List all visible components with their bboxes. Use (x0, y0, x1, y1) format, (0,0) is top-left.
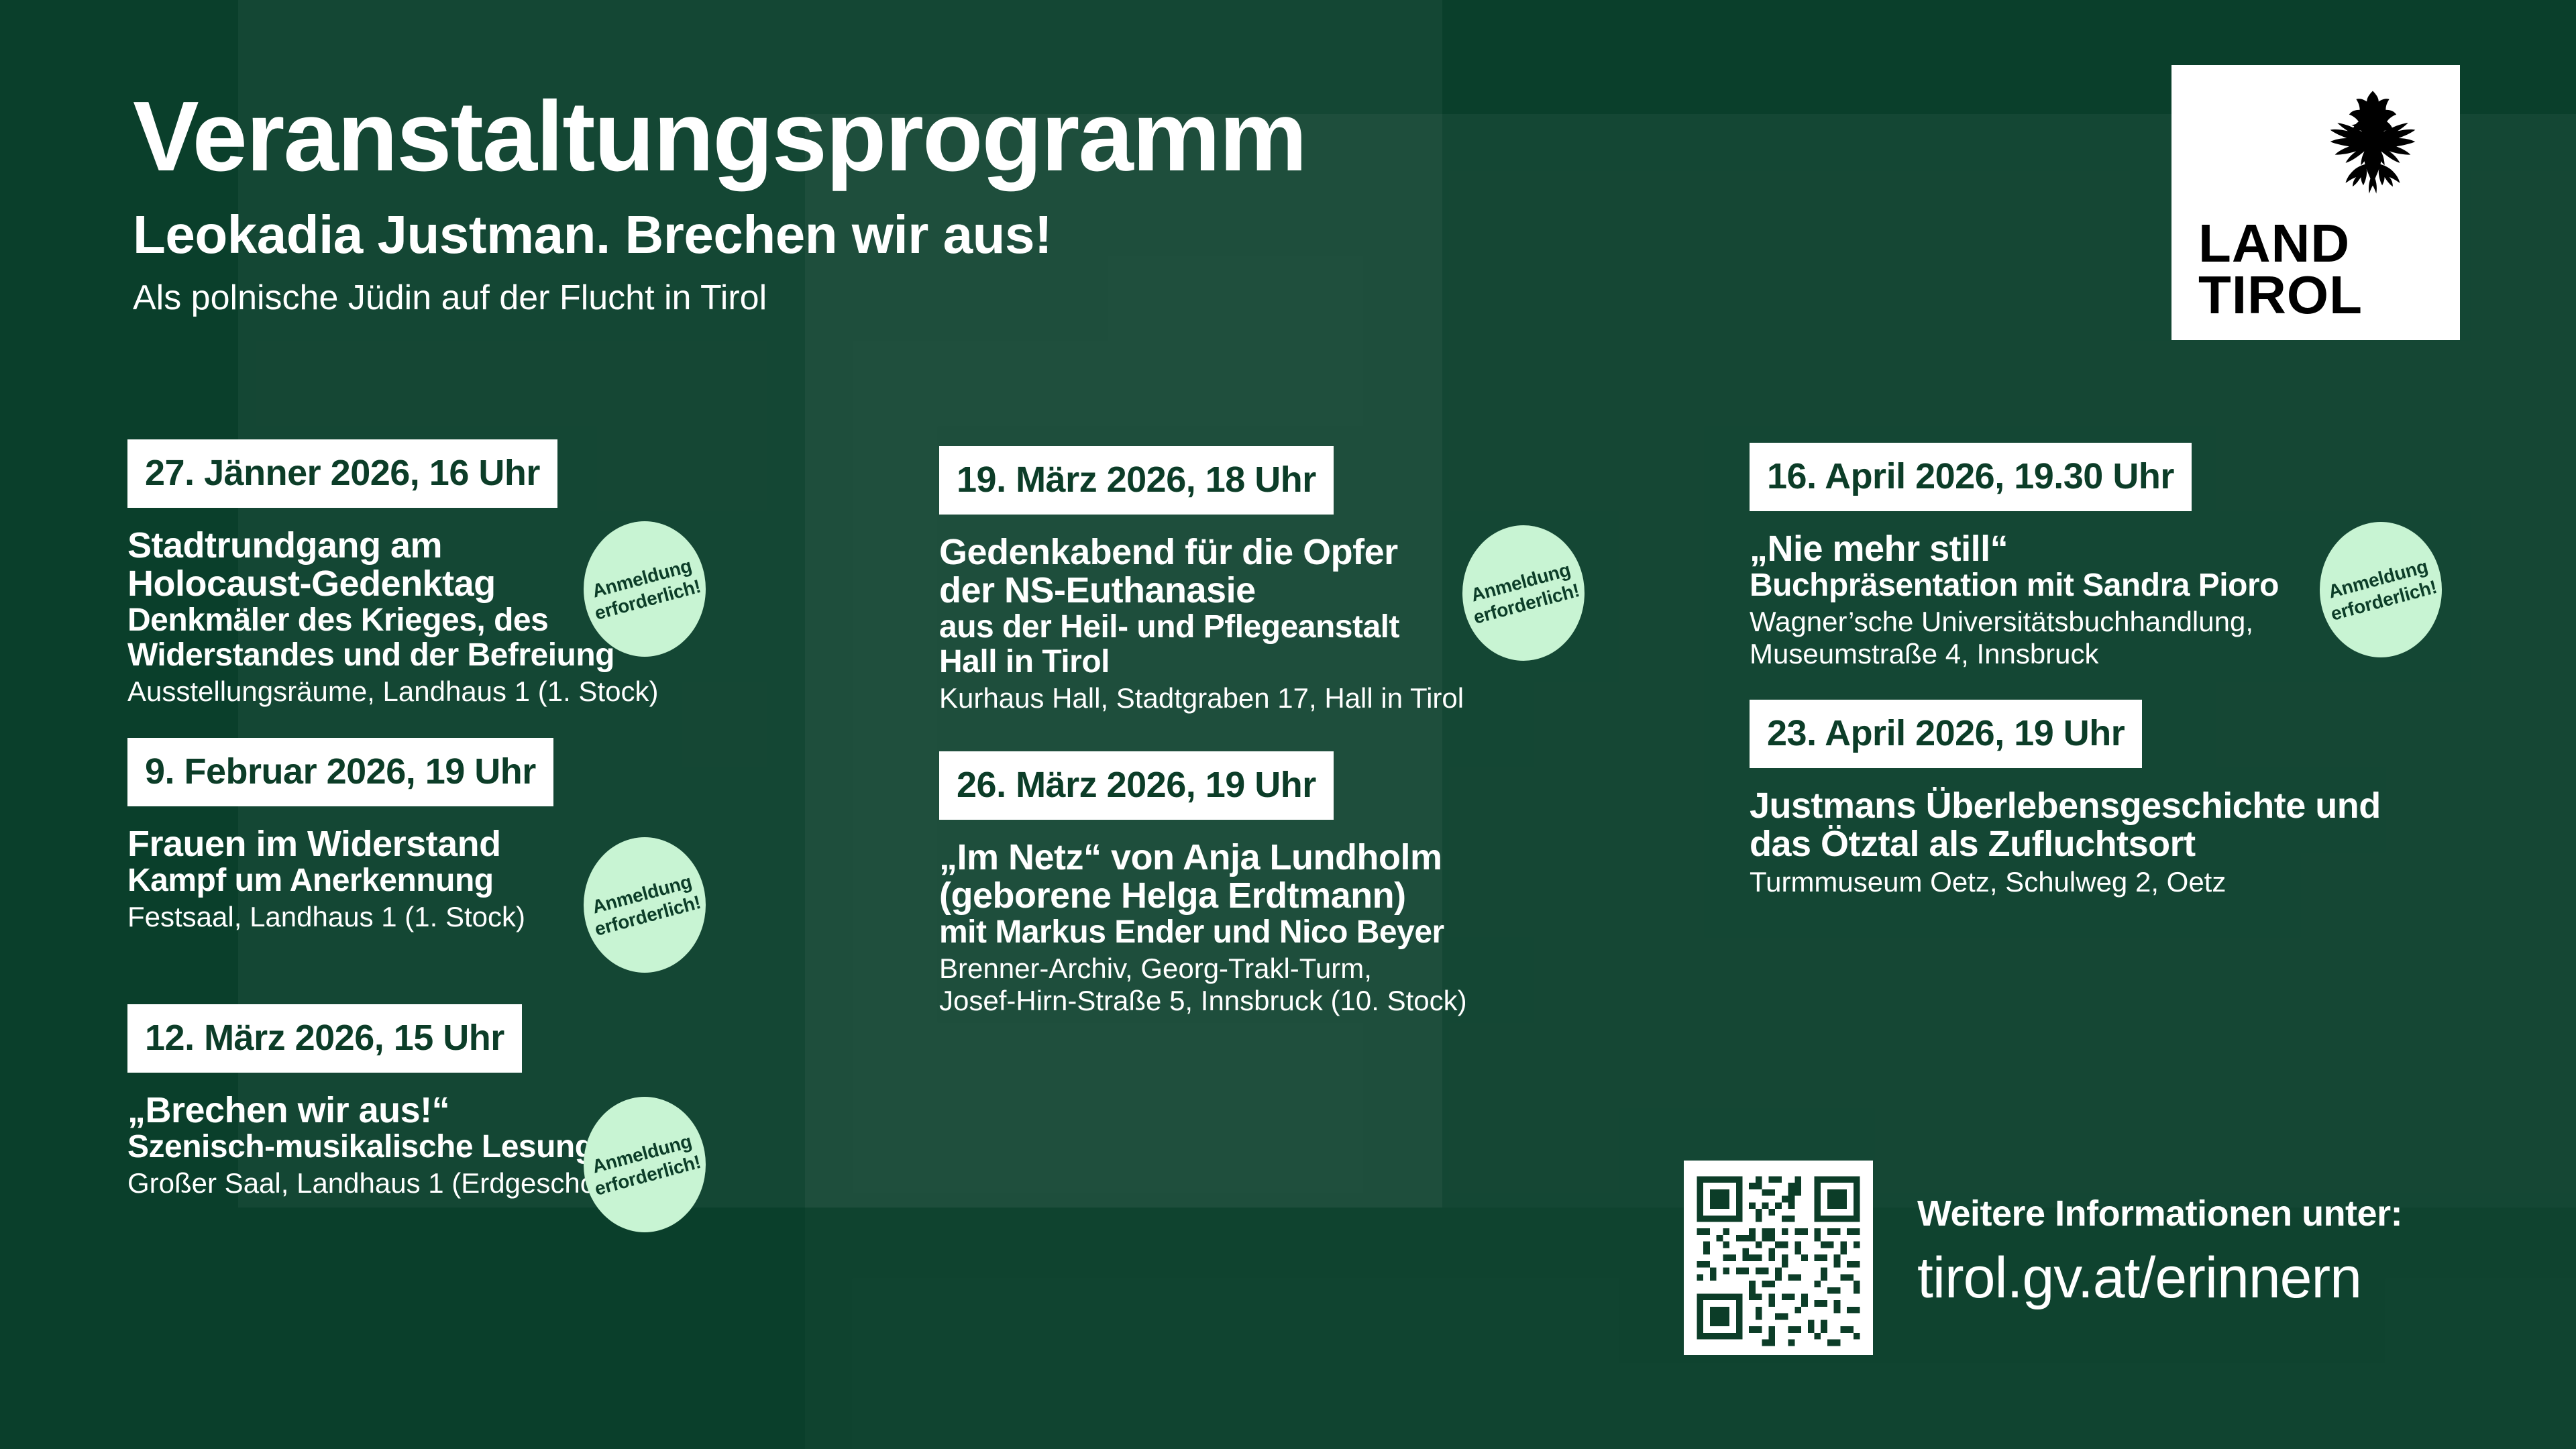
registration-badge-text: Anmeldung erforderlich! (2322, 554, 2439, 625)
registration-badge-text: Anmeldung erforderlich! (586, 869, 703, 941)
footer-lead-label: Weitere Informationen unter: (1917, 1195, 2402, 1232)
poster-header: Veranstaltungsprogramm Leokadia Justman.… (133, 87, 1743, 317)
event-title: Frauen im Widerstand (127, 825, 798, 863)
logo-line-tirol: TIROL (2198, 270, 2363, 321)
event-card: 12. März 2026, 15 Uhr „Brechen wir aus!“… (127, 1004, 798, 1219)
event-body: Justmans Überlebensgeschichte unddas Ötz… (1750, 787, 2501, 898)
land-tirol-logo: LAND TIROL (2171, 65, 2460, 340)
event-card: 27. Jänner 2026, 16 Uhr Stadtrundgang am… (127, 439, 798, 738)
event-date-chip: 27. Jänner 2026, 16 Uhr (127, 439, 557, 508)
footer-text-block: Weitere Informationen unter: tirol.gv.at… (1917, 1195, 2402, 1307)
event-column-3: 16. April 2026, 19.30 Uhr „Nie mehr stil… (1750, 443, 2501, 914)
event-date-chip: 9. Februar 2026, 19 Uhr (127, 738, 553, 806)
tyrolean-eagle-icon (2314, 84, 2432, 202)
event-venue: Kurhaus Hall, Stadtgraben 17, Hall in Ti… (939, 682, 1617, 714)
event-column-2: 19. März 2026, 18 Uhr Gedenkabend für di… (939, 446, 1617, 1073)
event-body: „Im Netz“ von Anja Lundholm(geborene Hel… (939, 839, 1617, 1017)
event-date-chip: 12. März 2026, 15 Uhr (127, 1004, 522, 1073)
land-tirol-wordmark: LAND TIROL (2198, 218, 2363, 321)
registration-badge: Anmeldung erforderlich! (584, 837, 706, 973)
event-title: „Im Netz“ von Anja Lundholm(geborene Hel… (939, 839, 1617, 915)
event-card: 23. April 2026, 19 Uhr Justmans Überlebe… (1750, 700, 2501, 914)
poster-tagline: Als polnische Jüdin auf der Flucht in Ti… (133, 279, 1743, 317)
event-venue: Ausstellungsräume, Landhaus 1 (1. Stock) (127, 676, 798, 708)
event-card: 16. April 2026, 19.30 Uhr „Nie mehr stil… (1750, 443, 2501, 700)
qr-code[interactable] (1684, 1161, 1873, 1355)
event-date-chip: 16. April 2026, 19.30 Uhr (1750, 443, 2192, 511)
event-column-1: 27. Jänner 2026, 16 Uhr Stadtrundgang am… (127, 439, 798, 1219)
logo-line-land: LAND (2198, 218, 2363, 270)
event-date-chip: 23. April 2026, 19 Uhr (1750, 700, 2142, 768)
registration-badge: Anmeldung erforderlich! (1462, 525, 1585, 661)
footer: Weitere Informationen unter: tirol.gv.at… (1684, 1161, 2522, 1382)
event-subtitle: mit Markus Ender und Nico Beyer (939, 915, 1617, 950)
footer-url[interactable]: tirol.gv.at/erinnern (1917, 1249, 2402, 1307)
registration-badge: Anmeldung erforderlich! (584, 521, 706, 657)
event-card: 19. März 2026, 18 Uhr Gedenkabend für di… (939, 446, 1617, 751)
page-title: Veranstaltungsprogramm (133, 87, 1743, 186)
event-card: 26. März 2026, 19 Uhr „Im Netz“ von Anja… (939, 751, 1617, 1073)
event-venue: Turmmuseum Oetz, Schulweg 2, Oetz (1750, 866, 2501, 898)
registration-badge: Anmeldung erforderlich! (584, 1097, 706, 1232)
event-card: 9. Februar 2026, 19 Uhr Frauen im Widers… (127, 738, 798, 1004)
event-date-chip: 26. März 2026, 19 Uhr (939, 751, 1334, 820)
registration-badge: Anmeldung erforderlich! (2320, 522, 2442, 657)
event-title: „Brechen wir aus!“ (127, 1091, 798, 1130)
event-venue: Brenner-Archiv, Georg-Trakl-Turm,Josef-H… (939, 953, 1617, 1017)
registration-badge-text: Anmeldung erforderlich! (586, 1129, 703, 1200)
registration-badge-text: Anmeldung erforderlich! (586, 553, 703, 625)
event-title: Justmans Überlebensgeschichte unddas Ötz… (1750, 787, 2501, 863)
poster-subtitle: Leokadia Justman. Brechen wir aus! (133, 207, 1743, 263)
registration-badge-text: Anmeldung erforderlich! (1465, 557, 1582, 629)
event-date-chip: 19. März 2026, 18 Uhr (939, 446, 1334, 515)
